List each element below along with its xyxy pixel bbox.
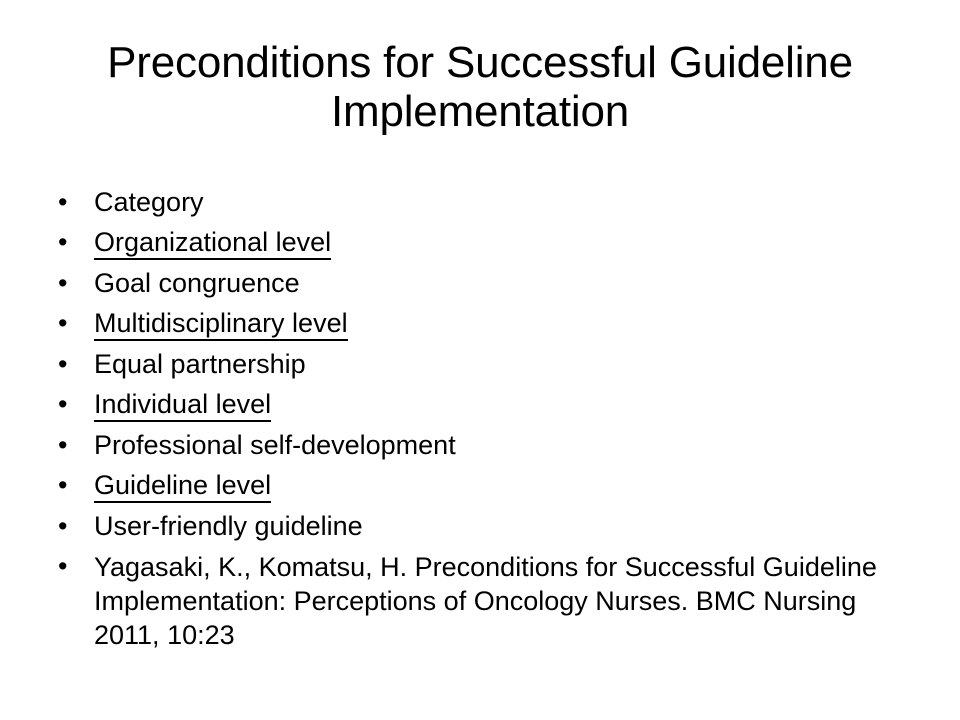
bullet-point-icon: • xyxy=(46,307,94,340)
bullet-point-icon: • xyxy=(46,186,94,219)
page-title: Preconditions for Successful Guideline I… xyxy=(40,38,920,137)
underlined-heading: Guideline level xyxy=(94,470,271,503)
underlined-heading: Individual level xyxy=(94,389,271,422)
list-item: •Organizational level xyxy=(46,226,926,260)
list-item: •Category xyxy=(46,186,926,219)
bullet-point-icon: • xyxy=(46,550,94,583)
citation-text: Yagasaki, K., Komatsu, H. Preconditions … xyxy=(94,550,924,652)
list-item-label: Professional self-development xyxy=(94,429,926,462)
list-item-label: Multidisciplinary level xyxy=(94,307,926,341)
list-item: •Guideline level xyxy=(46,469,926,503)
bullet-list: •Category•Organizational level•Goal cong… xyxy=(46,186,926,659)
underlined-heading: Organizational level xyxy=(94,227,331,260)
bullet-point-icon: • xyxy=(46,510,94,543)
list-item-label: Guideline level xyxy=(94,469,926,503)
list-item-label: Category xyxy=(94,186,926,219)
list-item: •Multidisciplinary level xyxy=(46,307,926,341)
list-item-label: Organizational level xyxy=(94,226,926,260)
list-item-label: Individual level xyxy=(94,388,926,422)
list-item-label: Equal partnership xyxy=(94,348,926,381)
presentation-slide: Preconditions for Successful Guideline I… xyxy=(0,0,960,720)
list-item: •Equal partnership xyxy=(46,348,926,381)
list-item: •Professional self-development xyxy=(46,429,926,462)
bullet-point-icon: • xyxy=(46,469,94,502)
bullet-point-icon: • xyxy=(46,226,94,259)
list-item: •Goal congruence xyxy=(46,267,926,300)
list-item: •Individual level xyxy=(46,388,926,422)
bullet-point-icon: • xyxy=(46,267,94,300)
underlined-heading: Multidisciplinary level xyxy=(94,308,348,341)
citation-item: •Yagasaki, K., Komatsu, H. Preconditions… xyxy=(46,550,926,652)
list-item: •User-friendly guideline xyxy=(46,510,926,543)
bullet-point-icon: • xyxy=(46,348,94,381)
list-item-label: User-friendly guideline xyxy=(94,510,926,543)
bullet-point-icon: • xyxy=(46,388,94,421)
bullet-point-icon: • xyxy=(46,429,94,462)
list-item-label: Goal congruence xyxy=(94,267,926,300)
